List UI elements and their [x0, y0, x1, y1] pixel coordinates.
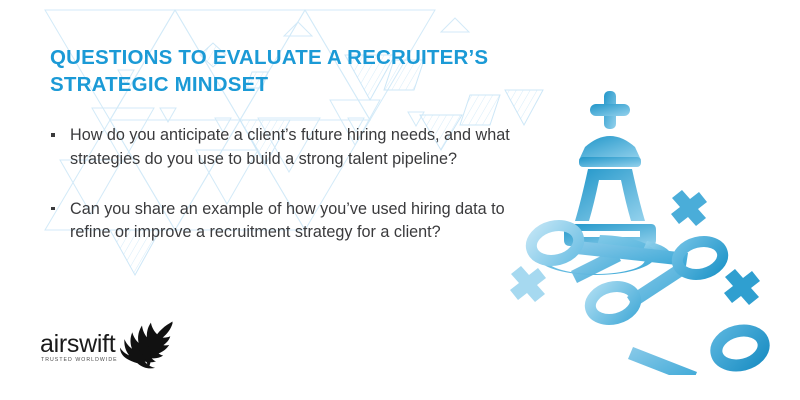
bullet-marker-icon: [51, 207, 55, 211]
network-node-ring: [674, 237, 726, 279]
page-title: Questions to Evaluate a Recruiter’s Stra…: [50, 44, 520, 99]
list-item-text: Can you share an example of how you’ve u…: [70, 200, 505, 242]
list-item: Can you share an example of how you’ve u…: [48, 198, 548, 246]
network-node-ring: [587, 282, 639, 324]
list-item-text: How do you anticipate a client’s future …: [70, 126, 510, 168]
slide-canvas: Questions to Evaluate a Recruiter’s Stra…: [0, 0, 800, 400]
chess-king-network-illustration: [495, 85, 800, 375]
logo-tagline: TRUSTED WORLDWIDE: [41, 358, 118, 363]
network-node-ring: [713, 326, 768, 371]
network-node-cross: [510, 266, 546, 302]
network-node-cross: [671, 190, 707, 226]
airswift-logo: airswift TRUSTED WORLDWIDE: [40, 320, 170, 376]
swift-bird-icon: [118, 320, 174, 370]
network-node-cross: [724, 269, 760, 305]
logo-wordmark: airswift: [40, 332, 115, 357]
bullet-marker-icon: [51, 133, 55, 137]
list-item: How do you anticipate a client’s future …: [48, 124, 548, 172]
network-node-ring: [528, 221, 583, 266]
question-list: How do you anticipate a client’s future …: [48, 124, 548, 245]
